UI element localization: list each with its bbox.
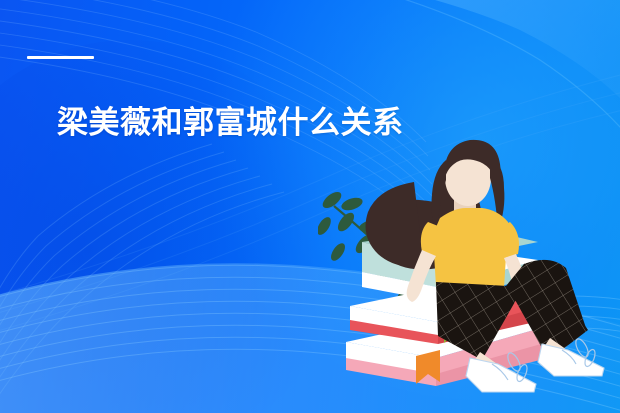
article-cover-banner: 梁美薇和郭富城什么关系 xyxy=(0,0,620,413)
shirt xyxy=(426,208,514,292)
title-divider-rule xyxy=(27,56,94,59)
top-light-arc xyxy=(250,0,620,120)
woman-on-books-illustration xyxy=(318,130,620,413)
